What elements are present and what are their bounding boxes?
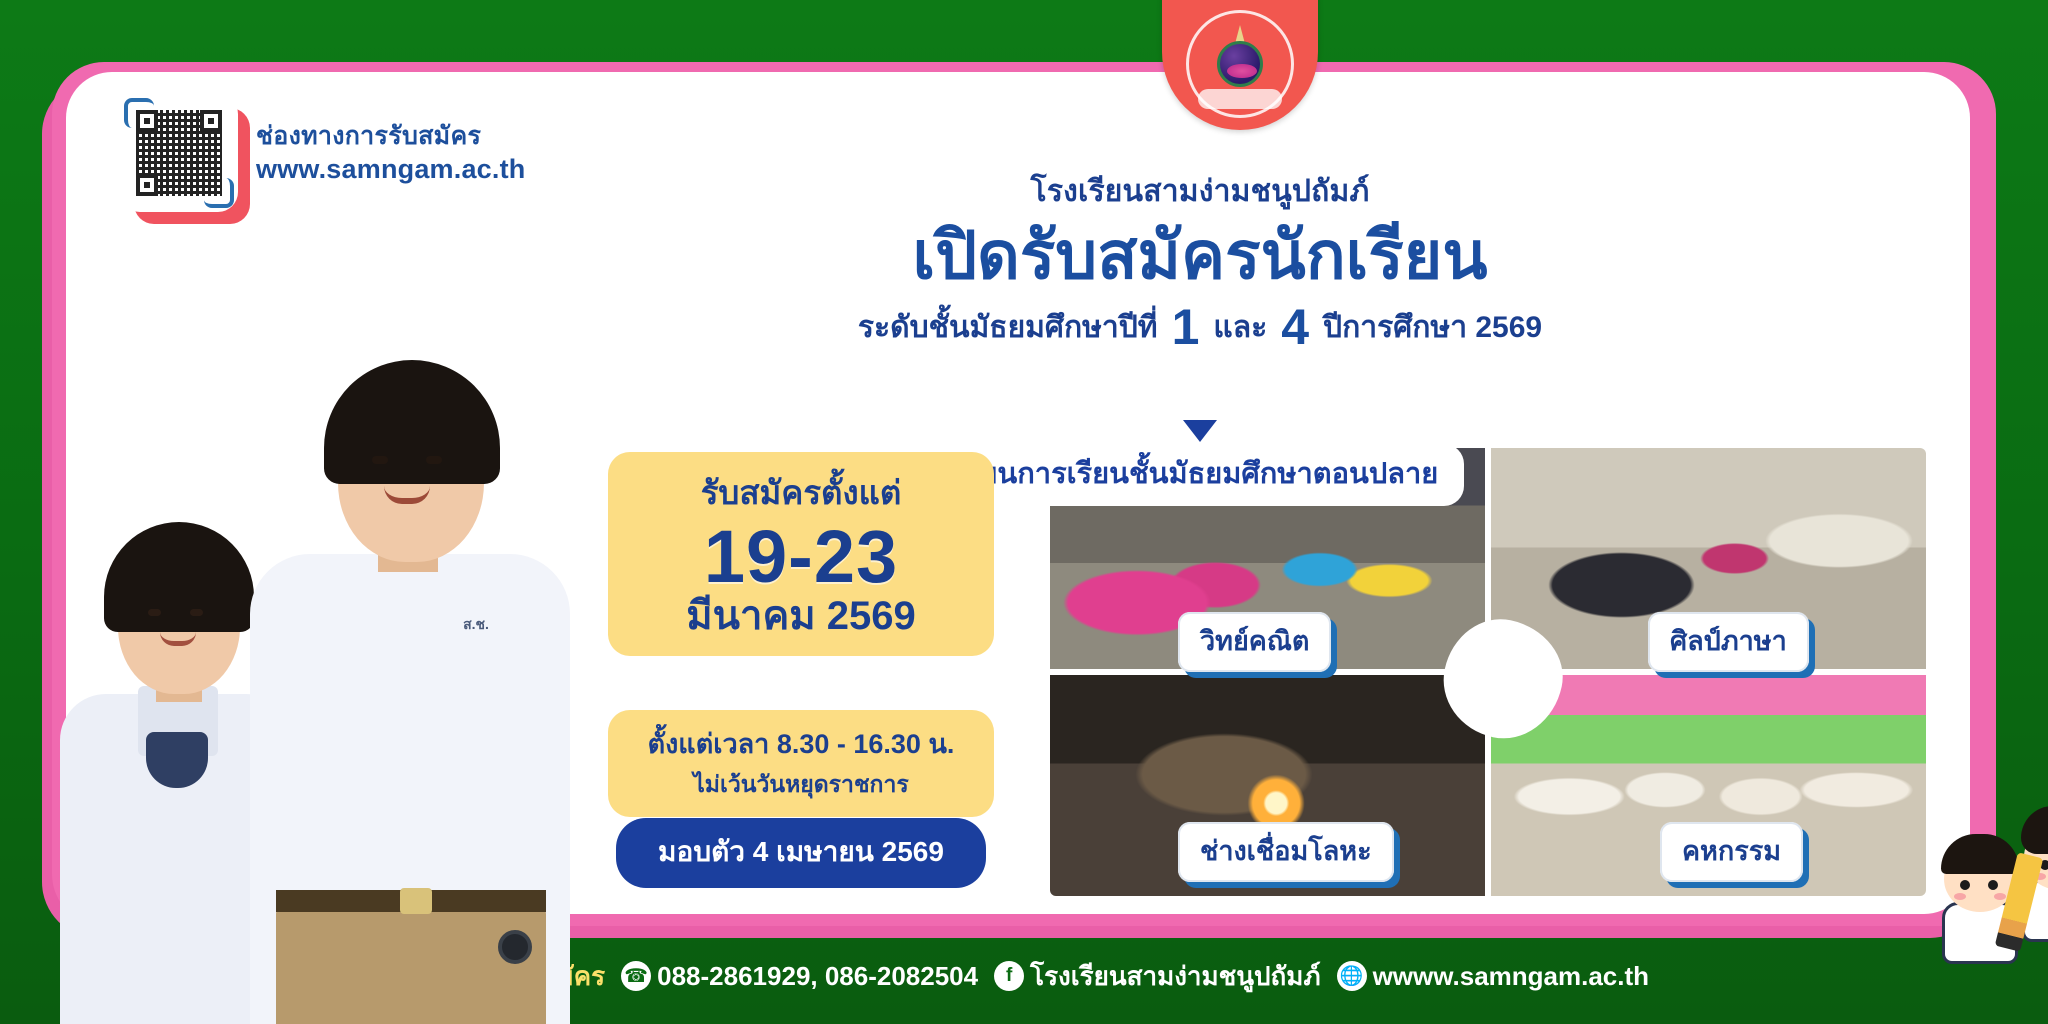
footer-phone-group[interactable]: ☎ 088-2861929, 086-2082504	[621, 961, 978, 992]
crest-ring	[1186, 10, 1294, 118]
date-month-year: มีนาคม 2569	[618, 594, 984, 638]
time-note: ไม่เว้นวันหยุดราชการ	[618, 767, 984, 803]
date-heading: รับสมัครตั้งแต่	[618, 466, 984, 519]
arrow-down-icon	[1183, 420, 1217, 442]
admission-poster: วิทย์คณิต ศิลป์ภาษา ช่างเชื่อมโลหะ คหกรร…	[0, 0, 2048, 1024]
qr-caption: ช่องทางการรับสมัคร www.samngam.ac.th	[256, 120, 525, 187]
girl-hair	[104, 522, 254, 632]
phone-icon: ☎	[621, 961, 651, 991]
facebook-icon: f	[994, 961, 1024, 991]
grade-line: ระดับชั้นมัธยมศึกษาปีที่ 1 และ 4 ปีการศึ…	[760, 302, 1640, 352]
qr-code-icon[interactable]	[120, 94, 238, 212]
academic-year: ปีการศึกษา 2569	[1323, 304, 1542, 351]
tag-home-economics: คหกรรม	[1660, 822, 1803, 882]
report-date-pill: มอบตัว 4 เมษายน 2569	[616, 818, 986, 888]
footer-website-group[interactable]: 🌐 wwww.samngam.ac.th	[1337, 961, 1649, 992]
footer-facebook-page: โรงเรียนสามง่ามชนูปถัมภ์	[1030, 956, 1320, 997]
grade-prefix: ระดับชั้นมัธยมศึกษาปีที่	[858, 304, 1158, 351]
tag-science-math: วิทย์คณิต	[1178, 612, 1331, 672]
qr-eye-top-left	[136, 110, 158, 132]
qr-code-block[interactable]	[120, 94, 250, 224]
qr-eye-top-right	[200, 110, 222, 132]
application-time-box: ตั้งแต่เวลา 8.30 - 16.30 น. ไม่เว้นวันหย…	[608, 710, 994, 817]
grade-level-4: 4	[1281, 302, 1309, 352]
footer-website: wwww.samngam.ac.th	[1373, 961, 1649, 992]
crest-scroll	[1198, 89, 1282, 109]
qr-website[interactable]: www.samngam.ac.th	[256, 152, 525, 187]
headline-block: โรงเรียนสามง่ามชนูปถัมภ์ เปิดรับสมัครนัก…	[760, 168, 1640, 352]
boy-shirt-badge: ส.ช.	[456, 614, 496, 636]
qr-channel-label: ช่องทางการรับสมัคร	[256, 120, 525, 152]
boy-trousers	[276, 904, 546, 1024]
page-title: เปิดรับสมัครนักเรียน	[760, 221, 1640, 290]
tag-metal-welding: ช่างเชื่อมโลหะ	[1178, 822, 1394, 882]
footer-facebook-group[interactable]: f โรงเรียนสามง่ามชนูปถัมภ์	[994, 956, 1320, 997]
school-name: โรงเรียนสามง่ามชนูปถัมภ์	[760, 168, 1640, 215]
girl-eye-right	[190, 609, 203, 616]
time-range: ตั้งแต่เวลา 8.30 - 16.30 น.	[618, 722, 984, 765]
boy-belt-buckle	[400, 888, 432, 914]
date-day-range: 19-23	[618, 519, 984, 594]
boy-eye-left	[372, 456, 388, 464]
globe-icon: 🌐	[1337, 961, 1367, 991]
girl-eye-left	[148, 609, 161, 616]
grade-conjunction: และ	[1213, 304, 1267, 351]
plan-badge: แผนการเรียนชั้นมัธยมศึกษาตอนปลาย	[936, 444, 1465, 506]
qr-code-pattern	[136, 110, 222, 196]
girl-necktie	[146, 732, 208, 788]
qr-eye-bottom-left	[136, 174, 158, 196]
boy-eye-right	[426, 456, 442, 464]
student-photo-group: ส.ช.	[20, 284, 580, 1024]
application-date-box: รับสมัครตั้งแต่ 19-23 มีนาคม 2569	[608, 452, 994, 656]
crest-orb	[1217, 41, 1263, 87]
boy-wristwatch	[498, 930, 532, 964]
tag-art-language: ศิลป์ภาษา	[1648, 612, 1809, 672]
grade-level-1: 1	[1172, 302, 1200, 352]
footer-phones: 088-2861929, 086-2082504	[657, 961, 978, 992]
boy-hair	[324, 360, 500, 484]
mascot-group	[1828, 768, 2038, 968]
student-boy: ส.ช.	[250, 324, 580, 1024]
